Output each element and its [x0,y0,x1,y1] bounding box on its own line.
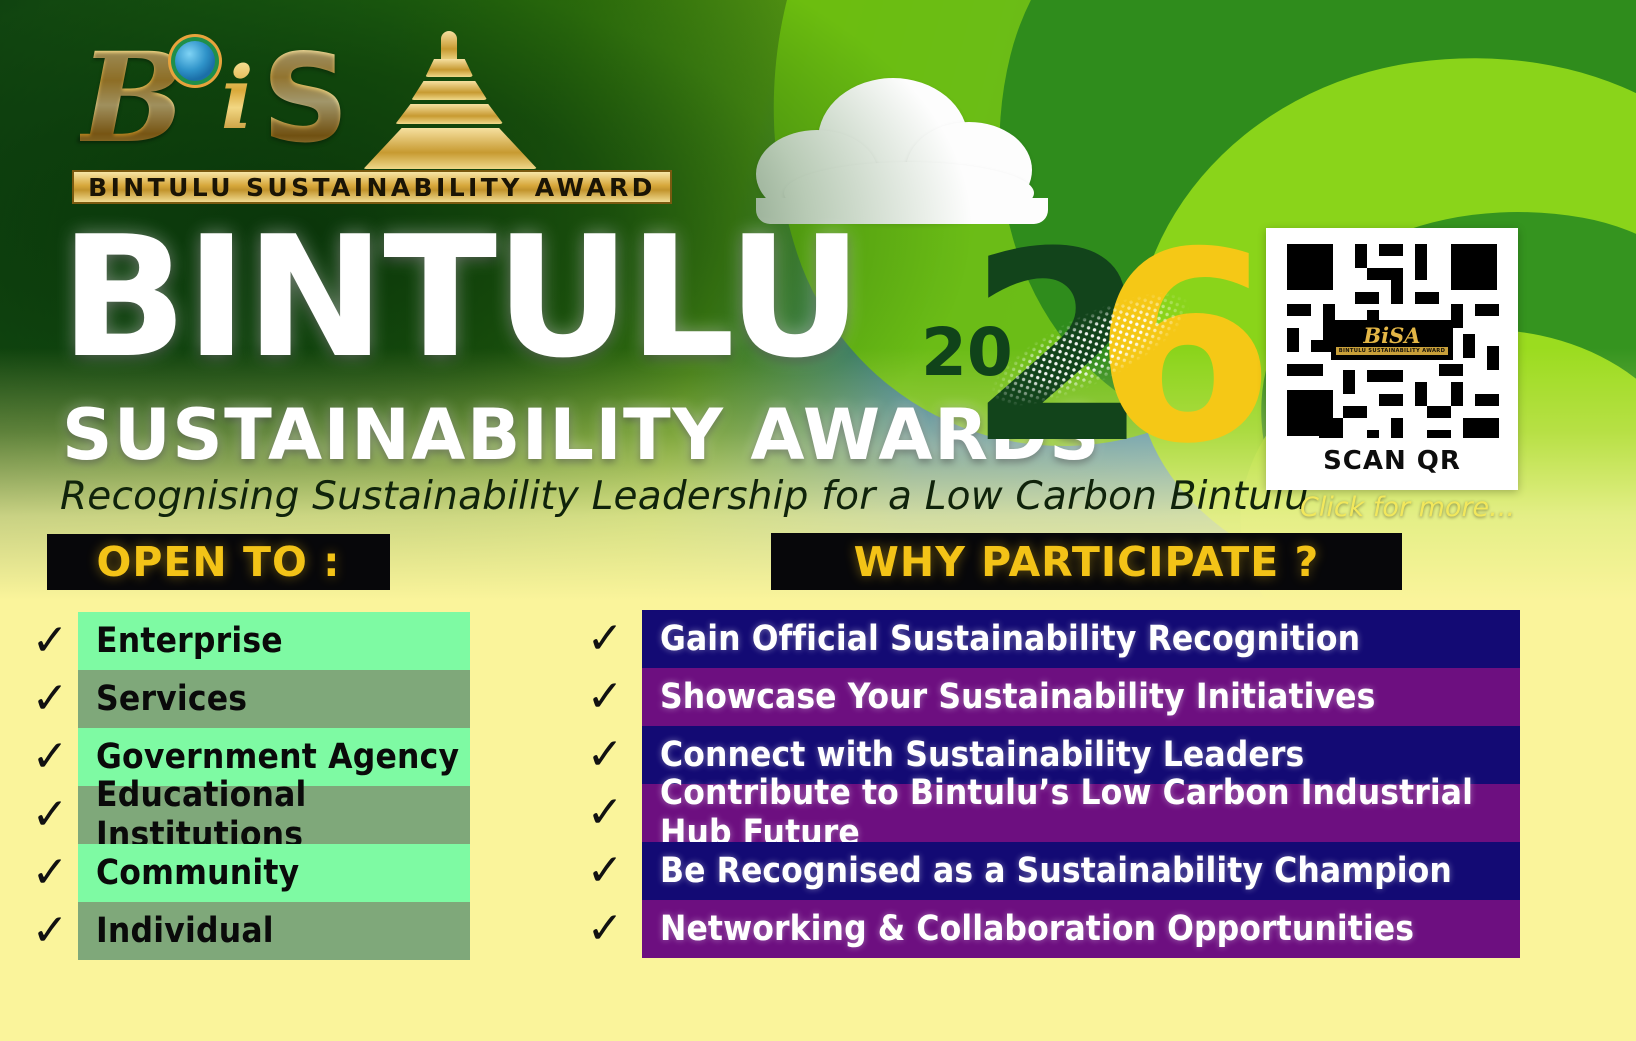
list-item[interactable]: ✓ Educational Institutions [22,786,470,844]
qr-center-logo: BiSA BINTULU SUSTAINABILITY AWARD [1331,320,1453,360]
qr-code-card[interactable]: BiSA BINTULU SUSTAINABILITY AWARD SCAN Q… [1266,228,1518,490]
check-icon: ✓ [22,786,78,844]
list-item-label: Services [96,679,247,719]
open-to-list: ✓ Enterprise ✓ Services ✓ Government Age… [22,612,470,960]
logo-banner-text: BINTULU SUSTAINABILITY AWARD [88,173,656,202]
list-item-label: Government Agency [96,737,459,777]
check-icon: ✓ [22,612,78,670]
list-item-label: Community [96,853,299,893]
list-item-label: Be Recognised as a Sustainability Champi… [660,851,1452,891]
list-item-label: Showcase Your Sustainability Initiatives [660,677,1375,717]
year-graphic: 2 6 20 [905,232,1215,502]
list-item-label: Gain Official Sustainability Recognition [660,619,1360,659]
check-icon: ✓ [568,726,642,784]
click-for-more-link[interactable]: Click for more... [1300,492,1515,523]
list-item-pill: Enterprise [78,612,470,670]
logo-mark: B i S [72,24,672,174]
check-icon: ✓ [22,902,78,960]
list-item[interactable]: ✓ Contribute to Bintulu’s Low Carbon Ind… [568,784,1520,842]
globe-icon [175,41,215,81]
list-item-pill: Be Recognised as a Sustainability Champi… [642,842,1520,900]
list-item[interactable]: ✓ Community [22,844,470,902]
page-title: BINTULU [60,222,861,376]
check-icon: ✓ [22,728,78,786]
logo-letter-i: i [221,56,254,142]
qr-code-icon[interactable]: BiSA BINTULU SUSTAINABILITY AWARD [1281,238,1503,444]
qr-center-logo-sub: BINTULU SUSTAINABILITY AWARD [1336,347,1448,355]
poster-root: B i S BINTULU SUSTAINABILITY AWARD BINTU… [0,0,1636,1041]
logo-letter-b: B [80,37,185,161]
list-item-pill: Contribute to Bintulu’s Low Carbon Indus… [642,784,1520,842]
list-item[interactable]: ✓ Enterprise [22,612,470,670]
scan-qr-label: SCAN QR [1323,446,1461,476]
list-item-label: Connect with Sustainability Leaders [660,735,1304,775]
check-icon: ✓ [568,668,642,726]
logo-banner: BINTULU SUSTAINABILITY AWARD [72,170,672,204]
list-item-label: Networking & Collaboration Opportunities [660,909,1414,949]
check-icon: ✓ [568,610,642,668]
list-item-label: Educational Institutions [96,775,470,855]
list-item[interactable]: ✓ Individual [22,902,470,960]
why-participate-heading-text: WHY PARTICIPATE ? [854,538,1320,586]
open-to-heading: OPEN TO : [47,534,390,590]
pagoda-icon [355,29,545,169]
list-item-pill: Individual [78,902,470,960]
list-item[interactable]: ✓ Services [22,670,470,728]
list-item[interactable]: ✓ Showcase Your Sustainability Initiativ… [568,668,1520,726]
check-icon: ✓ [568,784,642,842]
list-item-pill: Educational Institutions [78,786,470,844]
list-item-label: Enterprise [96,621,283,661]
list-item-label: Contribute to Bintulu’s Low Carbon Indus… [660,773,1520,853]
check-icon: ✓ [22,670,78,728]
list-item[interactable]: ✓ Gain Official Sustainability Recogniti… [568,610,1520,668]
list-item[interactable]: ✓ Networking & Collaboration Opportuniti… [568,900,1520,958]
qr-center-logo-main: BiSA [1363,325,1420,346]
check-icon: ✓ [22,844,78,902]
why-participate-list: ✓ Gain Official Sustainability Recogniti… [568,610,1520,958]
list-item-pill: Showcase Your Sustainability Initiatives [642,668,1520,726]
list-item-pill: Networking & Collaboration Opportunities [642,900,1520,958]
bisa-logo[interactable]: B i S BINTULU SUSTAINABILITY AWARD [72,24,672,214]
list-item[interactable]: ✓ Be Recognised as a Sustainability Cham… [568,842,1520,900]
list-item-pill: Community [78,844,470,902]
list-item-pill: Gain Official Sustainability Recognition [642,610,1520,668]
open-to-heading-text: OPEN TO : [97,538,341,586]
check-icon: ✓ [568,900,642,958]
list-item-label: Individual [96,911,274,951]
logo-letter-s: S [261,38,349,160]
why-participate-heading: WHY PARTICIPATE ? [771,533,1402,590]
list-item-pill: Services [78,670,470,728]
check-icon: ✓ [568,842,642,900]
